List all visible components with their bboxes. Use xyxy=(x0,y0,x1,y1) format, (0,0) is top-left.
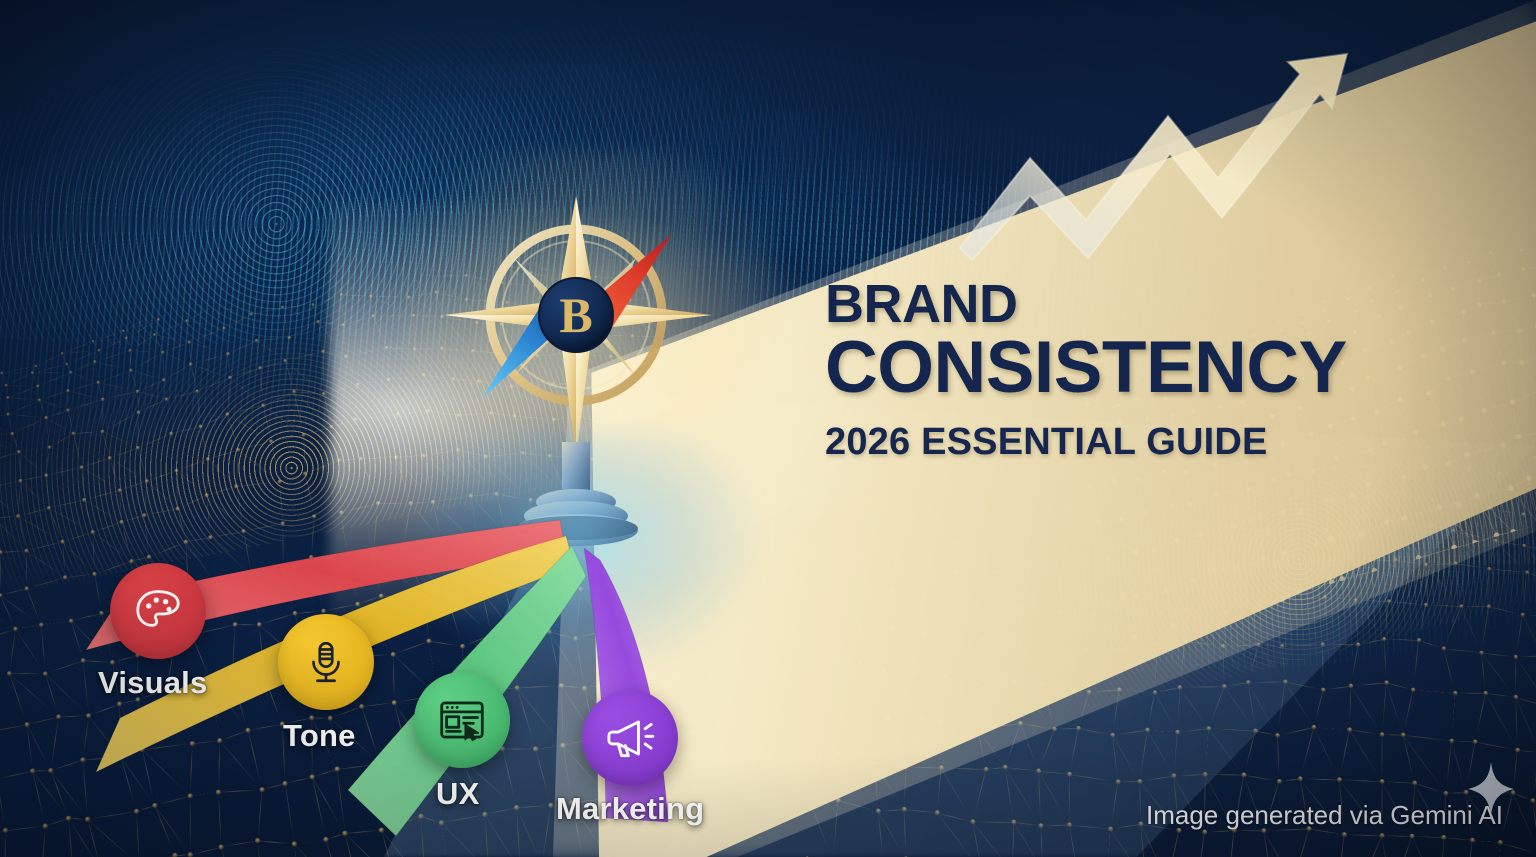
vignette-overlay xyxy=(0,0,1536,857)
hero-banner-image: B xyxy=(0,0,1536,857)
